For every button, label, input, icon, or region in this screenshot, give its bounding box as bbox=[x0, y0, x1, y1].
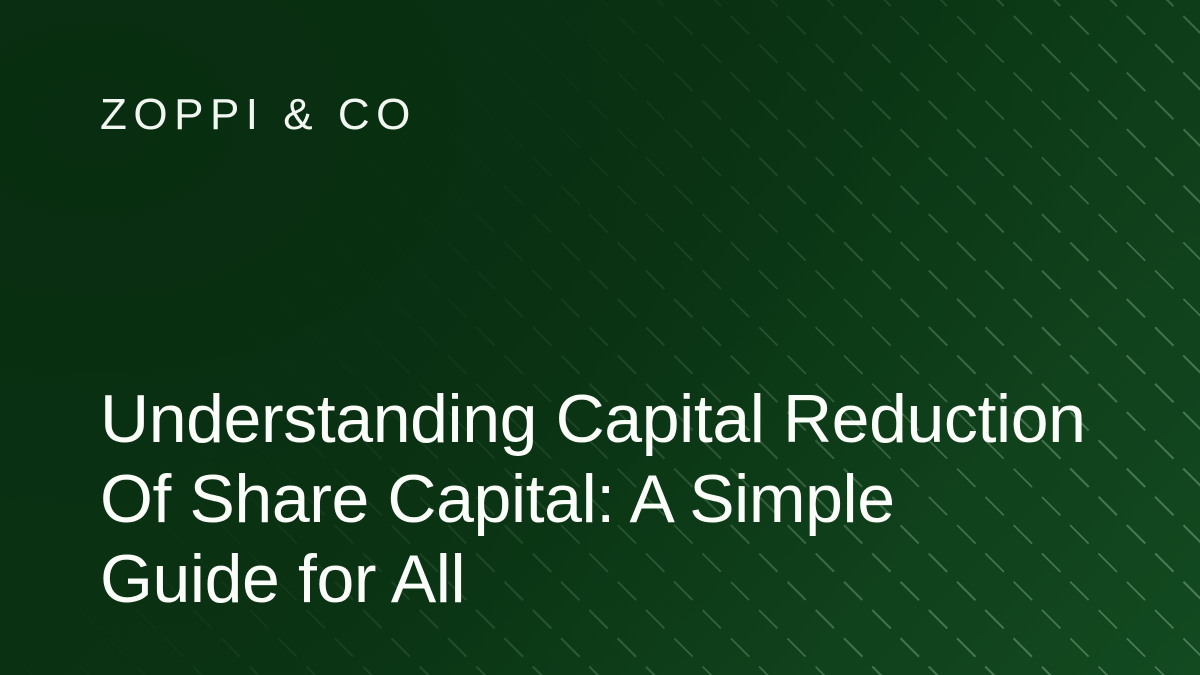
article-title-banner: ZOPPI & CO Understanding Capital Reducti… bbox=[0, 0, 1200, 675]
brand-wordmark: ZOPPI & CO bbox=[100, 93, 417, 137]
page-title-line-3: Guide for All bbox=[100, 539, 1140, 619]
banner-content: ZOPPI & CO Understanding Capital Reducti… bbox=[0, 0, 1200, 675]
page-title-line-2: Of Share Capital: A Simple bbox=[100, 459, 1140, 539]
page-title-line-1: Understanding Capital Reduction bbox=[100, 379, 1140, 459]
page-title: Understanding Capital Reduction Of Share… bbox=[100, 379, 1140, 619]
